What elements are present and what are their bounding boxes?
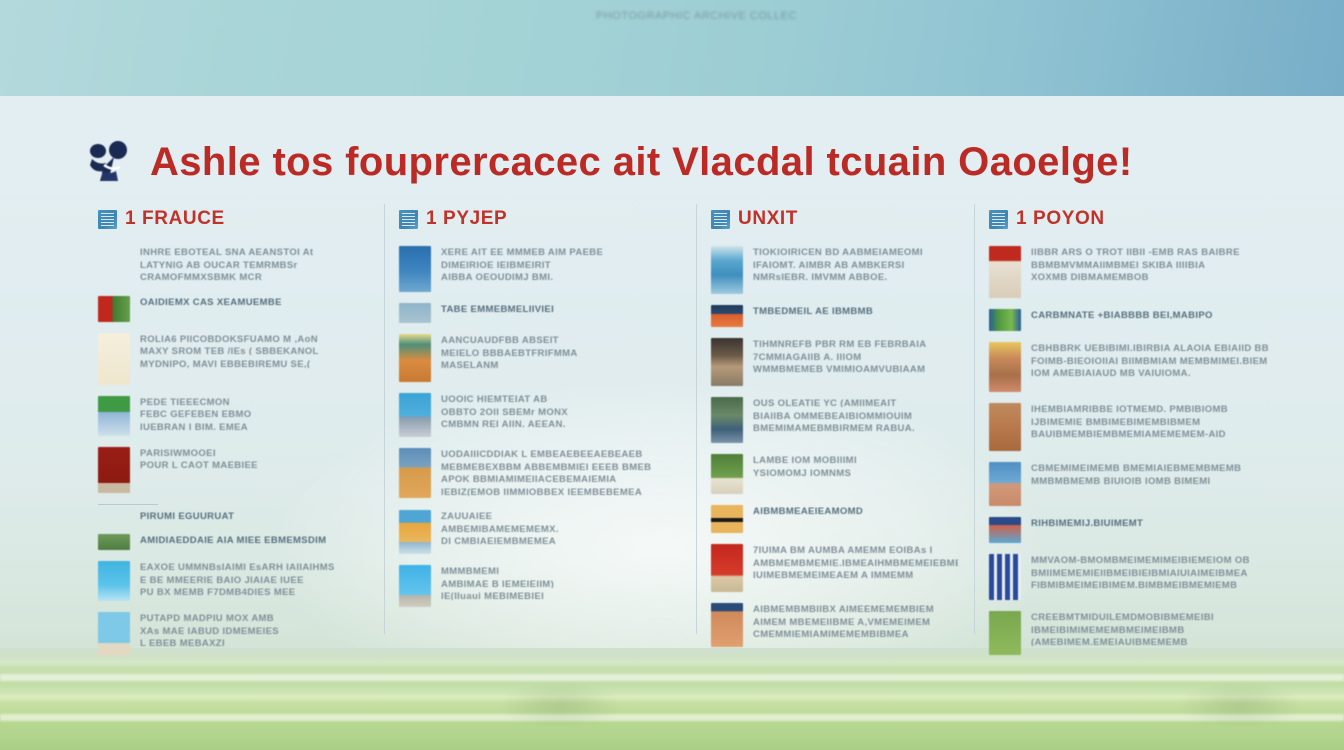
list-item-text: OAIDIEMX CAS XEAMUEMBE [140,296,368,310]
list-item-text: EAXOE UMMNBsIAIMI EsARH IAIIAIHMSE BE MM… [140,561,368,600]
list-item-line: TIHMNREFB PBR RM EB FEBRBAIA [753,339,958,348]
list-item-line: EAXOE UMMNBsIAIMI EsARH IAIIAIHMS [140,562,368,571]
list-item-line: PARISIWMOOEI [140,448,368,457]
list-item-line: LAMBE IOM MOBIIIMI [753,455,958,464]
list-item-line: (AMEBIMEM.EMEIAUIBMEMEMB [1031,637,1268,646]
list-item[interactable]: ZAUUAIEEAMBEMIBAMEMEMEMX.DI CMBIAEIEMBME… [389,510,680,554]
list-item-text: MMMBMEMIAMBIMAE B IEMEIEIIM)IE(IIuaui ME… [441,565,680,604]
page-title: Ashle tos fouprercacec ait Vlacdal tcuai… [150,140,1133,185]
list-item[interactable]: PIRUMI EGUURUAT [88,510,368,524]
list-item-line: CREEBMTMIDUILEMDMOBIBMEMEIBI [1031,612,1268,621]
column-title: 1 POYON [1016,208,1105,230]
list-item-text: CREEBMTMIDUILEMDMOBIBMEMEIBIIBMEIBIMIMEM… [1031,611,1268,650]
list-item-text: UODAIIICDDIAK L EMBEAEBEEAEBEAEBMEBMEBEX… [441,448,680,499]
list-item-line: IIBBR ARS O TROT IIBII -EMB RAS BAIBRE [1031,247,1268,256]
list-item-text: PEDE TIEEECMONFEBC GEFEBEN EBMOIUEBRAN I… [140,396,368,435]
list-item-text: UOOIC HIEMTEIAT ABOBBTO 2OII SBEMr MONXC… [441,393,680,432]
list-item-line: IE(IIuaui MEBIMEBIEI [441,591,680,600]
list-item-line: TMBEDMEIL AE IBMBMB [753,306,958,315]
list-item-line: OBBTO 2OII SBEMr MONX [441,407,680,416]
list-item-line: LATYNIG AB OUCAR TEMRMBSr [140,260,368,269]
grid-badge-icon [399,210,418,229]
list-item-text: 7IUIMA BM AUMBA AMEMM EOIBAs IAMBMEMBMEM… [753,544,958,583]
list-item-line: FOIMB-BIEOIOIIAI BIIMBMIAM MEMBMIMEI.BIE… [1031,356,1268,365]
list-item[interactable]: PUTAPD MADPIU MOX AMBXAs MAE IABUD IDMEM… [88,612,368,656]
bottom-watermark-right [1180,682,1300,728]
column-title: 1 FRAUCE [125,208,225,230]
column-header-2[interactable]: 1 PYJEP [389,204,680,234]
column-title: 1 PYJEP [426,208,507,230]
list-item[interactable]: PEDE TIEEECMONFEBC GEFEBEN EBMOIUEBRAN I… [88,396,368,436]
list-item-text: CARBMNATE +BIABBBB BEI,MABIPO [1031,309,1268,323]
blue-tree-thumb[interactable] [711,397,743,443]
column-header-4[interactable]: 1 POYON [979,204,1268,234]
orange-fan-thumb[interactable] [399,510,431,554]
halo-portrait-thumb[interactable] [989,342,1021,392]
list-item-line: CMEMMIEMIAMIMEMEMBIBMEA [753,629,958,638]
list-item[interactable]: OUS OLEATIE YC (AMIIMEAITBIAIIBA OMMEBEA… [701,397,958,443]
blue-landscape-thumb[interactable] [711,246,743,294]
list-item-line: CMBMN REI AIIN. AEEAN. [441,419,680,428]
list-item-line: CBHBBRK UEBIBIMI.IBIRBIA ALAOIA EBIAIID … [1031,343,1268,352]
list-item-text: PIRUMI EGUURUAT [140,510,368,524]
list-item[interactable]: RIHBIMEMIJ.BIUIMEMT [979,517,1268,543]
green-blue-figure-thumb[interactable] [98,396,130,436]
list-item[interactable]: IIBBR ARS O TROT IIBII -EMB RAS BAIBREBB… [979,246,1268,298]
cyan-sky-thumb[interactable] [399,565,431,607]
orange-desert-thumb[interactable] [399,334,431,382]
list-item-text: PARISIWMOOEIPOUR L CAOT MAEBIEE [140,447,368,473]
list-item-line: IUEBRAN I BIM. EMEA [140,422,368,431]
list-item-line: INHRE EBOTEAL SNA AEANSTOI At [140,247,368,256]
top-band-caption: PHOTOGRAPHIC ARCHIVE COLLECTION [596,10,796,26]
list-item-text: ZAUUAIEEAMBEMIBAMEMEMEMX.DI CMBIAEIEMBME… [441,510,680,549]
globe-marker-thumb[interactable] [989,611,1021,655]
grid-badge-icon [711,210,730,229]
column-3: UNXITTIOKIOIRICEN BD AABMEIAMEOMIIFAIOMT… [696,204,974,634]
list-item-line: MYDNIPO, MAVI EBBEBIREMU SE,( [140,359,368,368]
list-item-text: ROLIA6 PIICOBDOKSFUAMO M ,AoNMAXY SROM T… [140,333,368,372]
list-item-line: RIHBIMEMIJ.BIUIMEMT [1031,518,1268,527]
list-item-line: IOM AMEBIAIAUD MB VAIUIOMA. [1031,368,1268,377]
list-item[interactable]: CBMEMIMEIMEMB BMEMIAIEBMEMBMEMBMMBMBMEMB… [979,462,1268,506]
list-item[interactable]: ROLIA6 PIICOBDOKSFUAMO M ,AoNMAXY SROM T… [88,333,368,385]
blue-stripe-thumb[interactable] [989,554,1021,600]
list-item[interactable]: LAMBE IOM MOBIIIMIYSIOMOMJ IOMNMS [701,454,958,494]
list-item-line: UOOIC HIEMTEIAT AB [441,394,680,403]
green-banner-thumb[interactable] [989,309,1021,331]
list-item-line: AMBIMAE B IEMEIEIIM) [441,579,680,588]
list-item-line: IBMEIBIMIMEMEMBMEIMEIBMB [1031,625,1268,634]
list-item-text: CBHBBRK UEBIBIMI.IBIRBIA ALAOIA EBIAIID … [1031,342,1268,381]
red-fruit-thumb[interactable] [711,544,743,592]
bottom-gradient-band [0,648,1344,750]
list-item[interactable]: TIHMNREFB PBR RM EB FEBRBAIA7CMMIAGAIIB … [701,338,958,386]
list-item[interactable]: CREEBMTMIDUILEMDMOBIBMEMEIBIIBMEIBIMIMEM… [979,611,1268,655]
list-item[interactable]: MMMBMEMIAMBIMAE B IEMEIEIIM)IE(IIuaui ME… [389,565,680,607]
list-item-text: IHEMBIAMRIBBE IOTMEMD. PMBIBIOMBIJBIMEMI… [1031,403,1268,442]
list-item-line: MEBMEBEXBBM ABBEMBMIEI EEEB BMEB [441,462,680,471]
blue-fringe-thumb[interactable] [399,393,431,437]
panel-header: Ashle tos fouprercacec ait Vlacdal tcuai… [84,132,1284,192]
red-interior-thumb[interactable] [989,246,1021,298]
list-item-line: BBMBMVMMAIIMBMEI SKIBA IIIIBIA [1031,260,1268,269]
column-header-1[interactable]: 1 FRAUCE [88,204,368,234]
list-item[interactable]: AANCUAUDFBB ABSEITMEIELO BBBAEBTFRIFMMAM… [389,334,680,382]
list-item-line: BAUIBMEMBIEMBMEMIAMEMEMEM-AID [1031,429,1268,438]
black-orange-bar-thumb[interactable] [711,505,743,533]
red-green-block-thumb[interactable] [98,296,130,322]
list-item-line: XAs MAE IABUD IDMEMEIES [140,626,368,635]
list-item-line: AMBEMIBAMEMEMEMX. [441,524,680,533]
list-item-text: TMBEDMEIL AE IBMBMB [753,305,958,319]
list-item-line: XOXMB DIBMAMEMBOB [1031,272,1268,281]
green-leaf-plate-thumb[interactable] [711,454,743,494]
list-item-text: AMIDIAEDDAIE AIA MIEE EBMEMSDIM [140,534,368,548]
column-2: 1 PYJEPXERE AIT EE MMMEB AIM PAEBEDIMEIR… [384,204,696,634]
list-item[interactable]: INHRE EBOTEAL SNA AEANSTOI AtLATYNIG AB … [88,246,368,285]
list-item-text: PUTAPD MADPIU MOX AMBXAs MAE IABUD IDMEM… [140,612,368,651]
list-item-text: XERE AIT EE MMMEB AIM PAEBEDIMEIRIOE IEI… [441,246,680,285]
list-item-line: 7CMMIAGAIIB A. IIIOM [753,352,958,361]
archive-emblem-icon [84,137,134,187]
list-item-line: PEDE TIEEECMON [140,397,368,406]
list-item-line: PUTAPD MADPIU MOX AMB [140,613,368,622]
list-item-line: NMRsIEBR. IMVMM ABBOE. [753,272,958,281]
list-item-text: AANCUAUDFBB ABSEITMEIELO BBBAEBTFRIFMMAM… [441,334,680,373]
list-item-line: CARBMNATE +BIABBBB BEI,MABIPO [1031,310,1268,319]
list-item-line: AIMEM MBEMEIIBME A,VMEMEIMEM [753,617,958,626]
list-item-line: 7IUIMA BM AUMBA AMEMM EOIBAs I [753,545,958,554]
orange-sun-thumb[interactable] [711,305,743,327]
list-item-line: WMMBMEMEB VMIMIOAMVUBIAAM [753,364,958,373]
top-gradient-band: PHOTOGRAPHIC ARCHIVE COLLECTION [0,0,1344,96]
list-item-text: INHRE EBOTEAL SNA AEANSTOI AtLATYNIG AB … [140,246,368,285]
list-item-line: L EBEB MEBAXZI [140,638,368,647]
list-item-text: OUS OLEATIE YC (AMIIMEAITBIAIIBA OMMEBEA… [753,397,958,436]
list-item[interactable]: TIOKIOIRICEN BD AABMEIAMEOMIIFAIOMT. AIM… [701,246,958,294]
list-item-line: TABE EMMEBMELIIVIEI [441,304,680,313]
list-item-line: DIMEIRIOE IEIBMEIRIT [441,260,680,269]
list-item-text: TIOKIOIRICEN BD AABMEIAMEOMIIFAIOMT. AIM… [753,246,958,285]
list-item-line: AANCUAUDFBB ABSEIT [441,335,680,344]
list-item-text: LAMBE IOM MOBIIIMIYSIOMOMJ IOMNMS [753,454,958,480]
dark-red-card-thumb[interactable] [98,447,130,493]
list-item-text: TIHMNREFB PBR RM EB FEBRBAIA7CMMIAGAIIB … [753,338,958,377]
list-item-line: MASELANM [441,360,680,369]
list-item-text: TABE EMMEBMELIIVIEI [441,303,680,317]
list-item-line: AIBMBMEAEIEAMOMD [753,506,958,515]
blue-red-banner-thumb[interactable] [989,517,1021,543]
list-item-line: BMIIMEMEMIEIIBMEIBIEIBMIAIUIAIMEIBMEA [1031,568,1268,577]
green-leaf-thumb[interactable] [98,534,130,550]
portrait-thumb[interactable] [711,338,743,386]
blue-building-thumb[interactable] [399,246,431,292]
list-item-line: PIRUMI EGUURUAT [140,511,368,520]
list-item-line: UODAIIICDDIAK L EMBEAEBEEAEBEAEB [441,449,680,458]
list-item-line: OUS OLEATIE YC (AMIIMEAIT [753,398,958,407]
column-4: 1 POYONIIBBR ARS O TROT IIBII -EMB RAS B… [974,204,1284,634]
list-item-line: AMIDIAEDDAIE AIA MIEE EBMEMSDIM [140,535,368,544]
list-item-line: AIBMEMBMBIIBX AIMEEMEMEMBIEM [753,604,958,613]
list-item[interactable]: AIBMBMEAEIEAMOMD [701,505,958,533]
list-item-text: RIHBIMEMIJ.BIUIMEMT [1031,517,1268,531]
list-item[interactable]: UODAIIICDDIAK L EMBEAEBEEAEBEAEBMEBMEBEX… [389,448,680,499]
list-item[interactable]: AIBMEMBMBIIBX AIMEEMEMEMBIEMAIMEM MBEMEI… [701,603,958,647]
list-item-line: OAIDIEMX CAS XEAMUEMBE [140,297,368,306]
list-item-line: MAXY SROM TEB /IEs ( SBBEKANOL [140,346,368,355]
orange-column-thumb[interactable] [399,448,431,498]
list-item-line: FEBC GEFEBEN EBMO [140,409,368,418]
list-item[interactable]: XERE AIT EE MMMEB AIM PAEBEDIMEIRIOE IEI… [389,246,680,292]
cream-page-thumb[interactable] [98,333,130,385]
red-bottle-thumb[interactable] [98,612,130,656]
list-item[interactable]: TMBEDMEIL AE IBMBMB [701,305,958,327]
bottom-stripe-1 [0,674,1344,681]
list-item-line: IJBIMEMIE BMBIMEBIMEMBIBMEM [1031,417,1268,426]
list-item[interactable]: EAXOE UMMNBsIAIMI EsARH IAIIAIHMSE BE MM… [88,561,368,601]
list-item-line: E BE MMEERIE BAIO JIAIAE IUEE [140,575,368,584]
list-item-line: MEIELO BBBAEBTFRIFMMA [441,348,680,357]
bottom-stripe-2 [0,714,1344,721]
list-item[interactable]: AMIDIAEDDAIE AIA MIEE EBMEMSDIM [88,534,368,550]
list-item-text: IIBBR ARS O TROT IIBII -EMB RAS BAIBREBB… [1031,246,1268,285]
directory-panel: Ashle tos fouprercacec ait Vlacdal tcuai… [0,92,1344,652]
list-item-line: IEBIZ(EMOB IIMMIOBBEX IEEMBEBEMEA [441,487,680,496]
list-item-line: DI CMBIAEIEMBMEMEA [441,536,680,545]
columns-container: 1 FRAUCEINHRE EBOTEAL SNA AEANSTOI AtLAT… [84,204,1284,634]
list-item[interactable]: CBHBBRK UEBIBIMI.IBIRBIA ALAOIA EBIAIID … [979,342,1268,392]
bottom-watermark-left [500,682,620,728]
list-item-line: POUR L CAOT MAEBIEE [140,460,368,469]
list-item-text: AIBMBMEAEIEAMOMD [753,505,958,519]
grid-badge-icon [989,210,1008,229]
list-item-line: XERE AIT EE MMMEB AIM PAEBE [441,247,680,256]
list-item-line: IUIMEBMEMEIMEAEM A IMMEMM [753,570,958,579]
list-item[interactable]: UOOIC HIEMTEIAT ABOBBTO 2OII SBEMr MONXC… [389,393,680,437]
list-item[interactable]: CARBMNATE +BIABBBB BEI,MABIPO [979,309,1268,331]
list-item-line: FIBMIBMEIMEIBIMEM.BIMBMEIBMEMIEMB [1031,580,1268,589]
blue-strip-thumb[interactable] [399,303,431,323]
list-item[interactable]: IHEMBIAMRIBBE IOTMEMD. PMBIBIOMBIJBIMEMI… [979,403,1268,451]
cyan-water-thumb[interactable] [98,561,130,601]
brick-texture-thumb[interactable] [989,403,1021,451]
list-item[interactable]: MMVAOM-BMOMBMEIMEMIMEIBIEMEIOM OBBMIIMEM… [979,554,1268,600]
list-item-line: YSIOMOMJ IOMNMS [753,468,958,477]
list-item-line: TIOKIOIRICEN BD AABMEIAMEOMI [753,247,958,256]
list-item-line: AMBMEMBMEMIE.IBMEAIHMBMEMEIEBMEM [753,558,958,567]
entry-divider [98,504,158,505]
list-item-text: MMVAOM-BMOMBMEIMEMIMEIBIEMEIOM OBBMIIMEM… [1031,554,1268,593]
list-item-line: CRAMOFMMXSBMK MCR [140,272,368,281]
column-header-3[interactable]: UNXIT [701,204,958,234]
list-item-line: ZAUUAIEE [441,511,680,520]
list-item-text: AIBMEMBMBIIBX AIMEEMEMEMBIEMAIMEM MBEMEI… [753,603,958,642]
column-1: 1 FRAUCEINHRE EBOTEAL SNA AEANSTOI AtLAT… [84,204,384,634]
striped-cloth-thumb[interactable] [711,603,743,647]
list-item-line: IHEMBIAMRIBBE IOTMEMD. PMBIBIOMB [1031,404,1268,413]
list-item-line: BMEMIMAMEBMBIRMEM RABUA. [753,423,958,432]
column-title: UNXIT [738,208,798,230]
list-item-line: CBMEMIMEIMEMB BMEMIAIEBMEMBMEMB [1031,463,1268,472]
list-item[interactable]: TABE EMMEBMELIIVIEI [389,303,680,323]
list-item-line: ROLIA6 PIICOBDOKSFUAMO M ,AoN [140,334,368,343]
grid-badge-icon [98,210,117,229]
list-item[interactable]: 7IUIMA BM AUMBA AMEMM EOIBAs IAMBMEMBMEM… [701,544,958,592]
list-item-line: MMVAOM-BMOMBMEIMEMIMEIBIEMEIOM OB [1031,555,1268,564]
list-item-line: MMMBMEMI [441,566,680,575]
list-item[interactable]: PARISIWMOOEIPOUR L CAOT MAEBIEE [88,447,368,493]
list-item-line: IFAIOMT. AIMBR AB AMBKERSI [753,260,958,269]
list-item-line: AIBBA OEOUDIMJ BMI. [441,272,680,281]
list-item-line: BIAIIBA OMMEBEAIBIOMMIOUIM [753,411,958,420]
list-item[interactable]: OAIDIEMX CAS XEAMUEMBE [88,296,368,322]
list-item-line: MMBMBMEMB BIUIOIB IOMB BIMEMI [1031,476,1268,485]
blue-figure-thumb[interactable] [989,462,1021,506]
list-item-line: PU BX MEMB F7DMB4DIES MEE [140,587,368,596]
list-item-text: CBMEMIMEIMEMB BMEMIAIEBMEMBMEMBMMBMBMEMB… [1031,462,1268,488]
list-item-line: APOK BBMIAMIMEIIACEBEMAIEMIA [441,474,680,483]
